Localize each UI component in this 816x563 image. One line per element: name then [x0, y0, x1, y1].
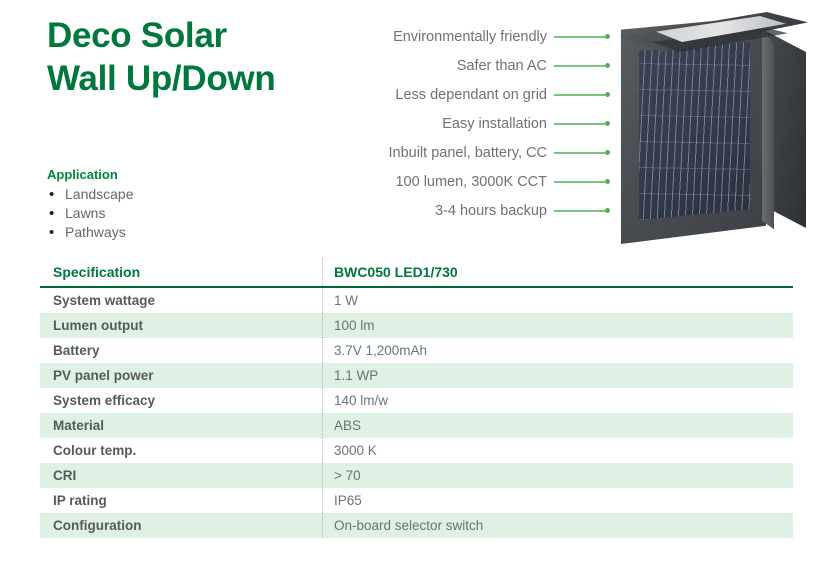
feature-label: Safer than AC	[300, 57, 547, 75]
table-row: Battery 3.7V 1,200mAh	[40, 338, 793, 363]
application-heading: Application	[47, 166, 307, 184]
column-divider	[322, 288, 323, 313]
spec-value: ABS	[322, 418, 793, 433]
spec-label: PV panel power	[40, 368, 322, 383]
spec-value: On-board selector switch	[322, 518, 793, 533]
table-row: Colour temp. 3000 K	[40, 438, 793, 463]
product-photo	[612, 6, 812, 254]
bullet-icon: •	[47, 223, 65, 242]
spec-value: 3.7V 1,200mAh	[322, 343, 793, 358]
feature-callout-list: Environmentally friendly Safer than AC L…	[300, 22, 610, 225]
leader-line-icon	[554, 148, 610, 157]
feature-callout: Less dependant on grid	[300, 80, 610, 109]
table-row: Lumen output 100 lm	[40, 313, 793, 338]
column-divider	[322, 413, 323, 438]
feature-label: 100 lumen, 3000K CCT	[300, 173, 547, 191]
table-header-model: BWC050 LED1/730	[322, 264, 793, 280]
feature-label: Easy installation	[300, 115, 547, 133]
spec-value: > 70	[322, 468, 793, 483]
spec-label: Material	[40, 418, 322, 433]
feature-callout: Safer than AC	[300, 51, 610, 80]
column-divider	[322, 338, 323, 363]
luminaire-front-edge	[762, 22, 774, 238]
spec-value: 3000 K	[322, 443, 793, 458]
column-divider	[322, 463, 323, 488]
feature-callout: Inbuilt panel, battery, CC	[300, 138, 610, 167]
spec-label: System wattage	[40, 293, 322, 308]
list-item: • Landscape	[47, 185, 307, 204]
solar-wall-luminaire-illustration	[612, 6, 812, 254]
table-row: IP rating IP65	[40, 488, 793, 513]
leader-line-icon	[554, 119, 610, 128]
leader-line-icon	[554, 32, 610, 41]
spec-value: 1 W	[322, 293, 793, 308]
leader-line-icon	[554, 177, 610, 186]
application-section: Application • Landscape • Lawns • Pathwa…	[47, 166, 307, 242]
spec-value: 140 lm/w	[322, 393, 793, 408]
table-row: PV panel power 1.1 WP	[40, 363, 793, 388]
spec-value: 1.1 WP	[322, 368, 793, 383]
solar-pv-panel	[638, 42, 750, 220]
table-row: CRI > 70	[40, 463, 793, 488]
column-divider	[322, 513, 323, 538]
specification-table: Specification BWC050 LED1/730 System wat…	[40, 258, 793, 538]
spec-label: IP rating	[40, 493, 322, 508]
application-item-label: Landscape	[65, 185, 134, 204]
table-header-specification: Specification	[40, 264, 322, 280]
leader-line-icon	[554, 90, 610, 99]
spec-label: Configuration	[40, 518, 322, 533]
list-item: • Lawns	[47, 204, 307, 223]
table-row: Material ABS	[40, 413, 793, 438]
spec-label: CRI	[40, 468, 322, 483]
column-divider	[322, 313, 323, 338]
spec-label: Lumen output	[40, 318, 322, 333]
feature-label: Environmentally friendly	[300, 28, 547, 46]
table-row: System efficacy 140 lm/w	[40, 388, 793, 413]
leader-line-icon	[554, 61, 610, 70]
table-row: System wattage 1 W	[40, 288, 793, 313]
spec-label: Colour temp.	[40, 443, 322, 458]
feature-callout: Environmentally friendly	[300, 22, 610, 51]
feature-callout: 3-4 hours backup	[300, 196, 610, 225]
feature-label: Inbuilt panel, battery, CC	[300, 144, 547, 162]
application-item-label: Lawns	[65, 204, 105, 223]
bullet-icon: •	[47, 185, 65, 204]
column-divider	[322, 388, 323, 413]
feature-label: 3-4 hours backup	[300, 202, 547, 220]
column-divider	[322, 258, 323, 286]
application-item-label: Pathways	[65, 223, 126, 242]
column-divider	[322, 363, 323, 388]
table-row: Configuration On-board selector switch	[40, 513, 793, 538]
spec-label: Battery	[40, 343, 322, 358]
feature-label: Less dependant on grid	[300, 86, 547, 104]
column-divider	[322, 488, 323, 513]
leader-line-icon	[554, 206, 610, 215]
spec-label: System efficacy	[40, 393, 322, 408]
spec-value: 100 lm	[322, 318, 793, 333]
feature-callout: Easy installation	[300, 109, 610, 138]
spec-value: IP65	[322, 493, 793, 508]
column-divider	[322, 438, 323, 463]
feature-callout: 100 lumen, 3000K CCT	[300, 167, 610, 196]
list-item: • Pathways	[47, 223, 307, 242]
table-header-row: Specification BWC050 LED1/730	[40, 258, 793, 286]
bullet-icon: •	[47, 204, 65, 223]
